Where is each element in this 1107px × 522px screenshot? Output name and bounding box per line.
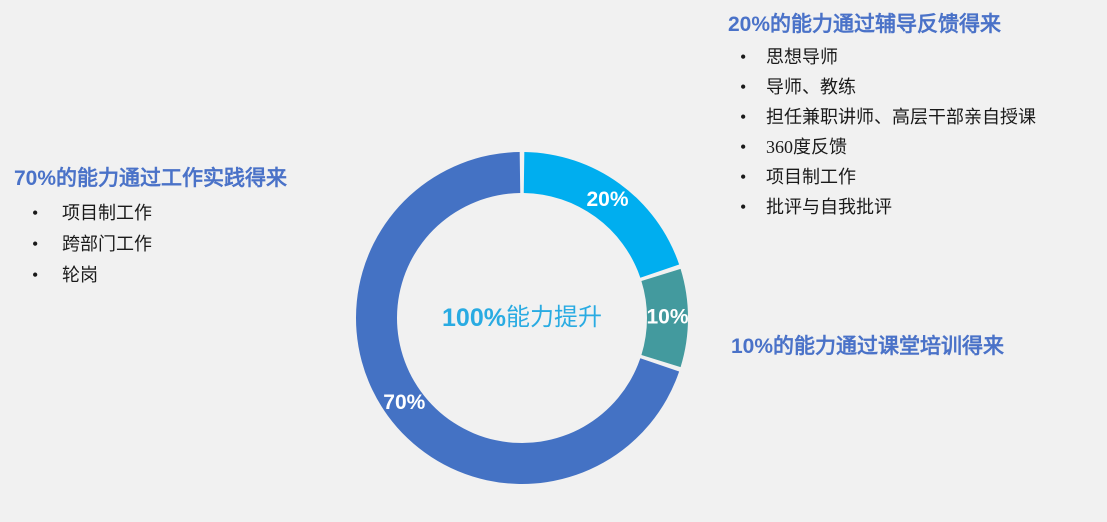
list-item: • 担任兼职讲师、高层干部亲自授课 (728, 102, 1036, 132)
top-right-bullet-list: • 思想导师 • 导师、教练 • 担任兼职讲师、高层干部亲自授课 • 360度反… (728, 42, 1036, 222)
bottom-right-text-block: 10%的能力通过课堂培训得来 (731, 334, 1004, 360)
top-right-block-heading: 20%的能力通过辅导反馈得来 (728, 12, 1036, 38)
list-item: • 思想导师 (728, 42, 1036, 72)
list-item: • 360度反馈 (728, 132, 1036, 162)
list-item: • 轮岗 (14, 260, 287, 291)
list-item: • 跨部门工作 (14, 229, 287, 260)
donut-chart-svg: 20% 10% 70% 100%能力提升 (344, 140, 700, 496)
bullet-dot-icon: • (740, 162, 746, 192)
list-item: • 项目制工作 (728, 162, 1036, 192)
bullet-dot-icon: • (32, 229, 38, 260)
list-item: • 项目制工作 (14, 198, 287, 229)
bullet-dot-icon: • (740, 102, 746, 132)
list-item-label: 思想导师 (766, 47, 838, 67)
list-item-label: 批评与自我批评 (766, 197, 892, 217)
bullet-dot-icon: • (740, 132, 746, 162)
donut-label-20: 20% (586, 188, 628, 211)
donut-slice-20[interactable] (524, 152, 679, 278)
list-item-label: 项目制工作 (62, 203, 152, 223)
donut-center-prefix: 100% (442, 304, 506, 332)
list-item-label: 担任兼职讲师、高层干部亲自授课 (766, 107, 1036, 127)
bottom-right-block-heading: 10%的能力通过课堂培训得来 (731, 334, 1004, 360)
donut-chart: 20% 10% 70% 100%能力提升 (344, 140, 700, 496)
bullet-dot-icon: • (32, 260, 38, 291)
slide-canvas: 70%的能力通过工作实践得来 • 项目制工作 • 跨部门工作 • 轮岗 20%的… (0, 0, 1107, 522)
list-item-label: 项目制工作 (766, 167, 856, 187)
donut-label-10: 10% (646, 306, 688, 329)
donut-label-70: 70% (383, 391, 425, 414)
bullet-dot-icon: • (32, 198, 38, 229)
bullet-dot-icon: • (740, 42, 746, 72)
list-item-label: 轮岗 (62, 265, 98, 285)
top-right-text-block: 20%的能力通过辅导反馈得来 • 思想导师 • 导师、教练 • 担任兼职讲师、高… (728, 12, 1036, 222)
left-bullet-list: • 项目制工作 • 跨部门工作 • 轮岗 (14, 198, 287, 291)
list-item-label: 360度反馈 (766, 137, 847, 157)
list-item: • 导师、教练 (728, 72, 1036, 102)
bullet-dot-icon: • (740, 192, 746, 222)
left-block-heading: 70%的能力通过工作实践得来 (14, 166, 287, 192)
list-item-label: 跨部门工作 (62, 234, 152, 254)
left-text-block: 70%的能力通过工作实践得来 • 项目制工作 • 跨部门工作 • 轮岗 (14, 166, 287, 291)
donut-center-suffix: 能力提升 (506, 304, 602, 331)
bullet-dot-icon: • (740, 72, 746, 102)
donut-center-label: 100%能力提升 (442, 304, 602, 332)
list-item-label: 导师、教练 (766, 77, 856, 97)
list-item: • 批评与自我批评 (728, 192, 1036, 222)
